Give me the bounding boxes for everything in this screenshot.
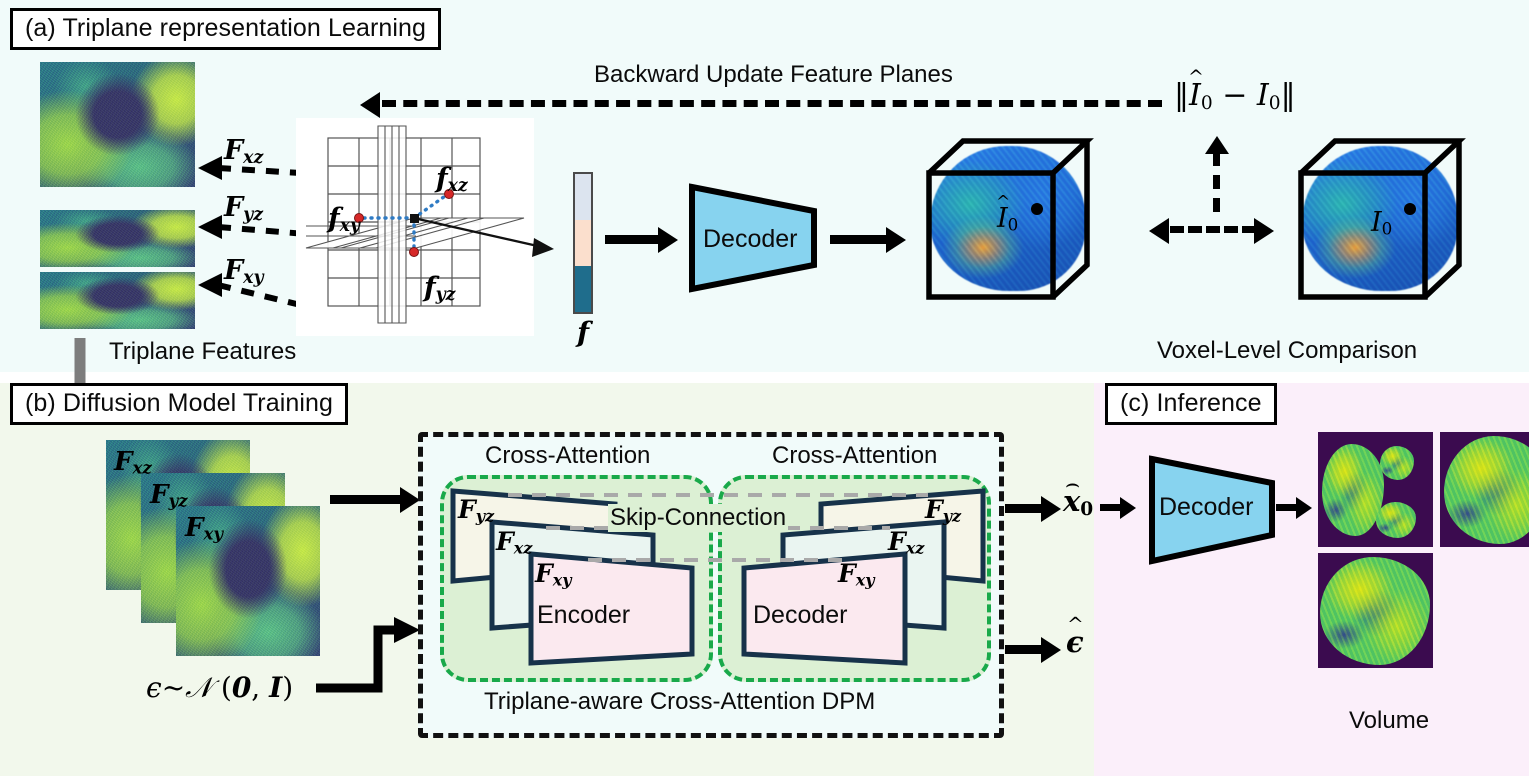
voxel-level-comparison-caption: Voxel-Level Comparison: [1157, 337, 1417, 365]
triplane-feature-map-xy: [40, 272, 195, 329]
triplane-feature-map-xz: [40, 62, 195, 187]
output-label-epsilon-hat: ^ ϵ: [1066, 625, 1084, 659]
feature-vector-label: f: [577, 316, 589, 349]
slice-blob: [1376, 502, 1416, 538]
dpm-box-caption: Triplane-aware Cross-Attention DPM: [484, 688, 875, 716]
panel-b-label: (b) Diffusion Model Training: [10, 383, 348, 425]
arrow-head-features-to-decoder: [658, 227, 678, 253]
arrow-dpm-to-epsilon: [1005, 645, 1043, 654]
ground-truth-volume-sample-dot: [1404, 203, 1416, 215]
arrow-dpm-to-x0: [1005, 504, 1043, 513]
decoder-label-panel-a: Decoder: [703, 225, 798, 254]
volume-slice-1: [1318, 432, 1433, 547]
slice-blob: [1380, 446, 1414, 480]
panel-a-label: (a) Triplane representation Learning: [10, 8, 441, 50]
arrow-decoder-to-volume-c: [1276, 504, 1298, 511]
backward-update-arrow-head: [360, 92, 380, 118]
arrow-head-decoder-to-volume: [886, 227, 906, 253]
input-plane-label-fyz: Fyz: [150, 480, 188, 511]
arrow-decoder-to-volume: [830, 235, 888, 244]
arrow-head-decoder-to-volume-c: [1296, 497, 1312, 519]
comparison-arrow-head-right: [1254, 218, 1274, 244]
arrow-head-dpm-to-epsilon: [1041, 637, 1061, 663]
decoder-label-panel-b: Decoder: [753, 601, 848, 630]
encoder-plane-label-fyz: Fyz: [458, 495, 494, 526]
slice-blob: [1322, 444, 1384, 536]
cross-attention-label-right: Cross-Attention: [772, 442, 937, 470]
volume-caption: Volume: [1349, 707, 1429, 735]
volume-slice-2: [1440, 432, 1529, 547]
loss-vertical-dashed-line: [1213, 152, 1220, 212]
arrow-head-planes-to-dpm: [400, 487, 420, 513]
feature-vector-segment-top: [575, 174, 591, 220]
arrow-head-dpm-to-x0: [1041, 496, 1061, 522]
arrow-noise-to-dpm: [310, 620, 420, 730]
arrow-head-x0-to-decoder-c: [1120, 497, 1136, 519]
arrow-features-to-decoder: [605, 235, 660, 244]
triplane-feature-map-yz: [40, 210, 195, 267]
backward-update-caption: Backward Update Feature Planes: [594, 61, 953, 89]
slice-blob: [1320, 557, 1430, 665]
loss-expression: ‖I^0 − I0‖: [1174, 78, 1296, 114]
decoder-plane-label-fxy: Fxy: [838, 559, 875, 590]
grid-point-label-fyz: fyz: [424, 272, 455, 305]
slice-blob: [1444, 436, 1529, 544]
panel-c-label: (c) Inference: [1105, 383, 1277, 425]
backward-update-dashed-line: [382, 100, 1162, 107]
cross-attention-label-left: Cross-Attention: [485, 442, 650, 470]
volume-slice-3: [1318, 553, 1433, 668]
predicted-volume-label: I^0: [997, 203, 1018, 235]
input-plane-label-fxz: Fxz: [114, 447, 152, 478]
encoder-label: Encoder: [537, 601, 630, 630]
noise-distribution-label: ϵ~𝒩 (0, I): [146, 671, 293, 705]
feature-vector-bar: [573, 172, 593, 314]
arrow-planes-to-dpm: [330, 495, 402, 504]
predicted-volume-sample-dot: [1031, 203, 1043, 215]
grid-point-label-fxz: fxz: [436, 163, 468, 196]
decoder-plane-label-fyz: Fyz: [925, 495, 961, 526]
arrow-x0-to-decoder-c: [1100, 504, 1122, 511]
output-label-x0-hat: ⌢ x0: [1063, 484, 1093, 520]
loss-arrow-head-up: [1205, 136, 1229, 154]
encoder-plane-label-fxy: Fxy: [535, 559, 572, 590]
grid-point-label-fxy: fxy: [328, 203, 360, 236]
encoder-plane-label-fxz: Fxz: [496, 527, 532, 558]
decoder-plane-label-fxz: Fxz: [888, 527, 924, 558]
comparison-horizontal-dashed-line: [1170, 226, 1256, 233]
input-plane-label-fxy: Fxy: [185, 513, 223, 544]
feature-vector-segment-bottom: [575, 266, 591, 312]
skip-connection-label: Skip-Connection: [608, 504, 788, 532]
figure-root: Triplane Features Fxz Fyz Fxy: [0, 0, 1529, 776]
comparison-arrow-head-left: [1149, 218, 1169, 244]
ground-truth-volume-label: I0: [1371, 207, 1392, 239]
feature-vector-segment-mid: [575, 220, 591, 267]
decoder-label-panel-c: Decoder: [1159, 493, 1254, 522]
